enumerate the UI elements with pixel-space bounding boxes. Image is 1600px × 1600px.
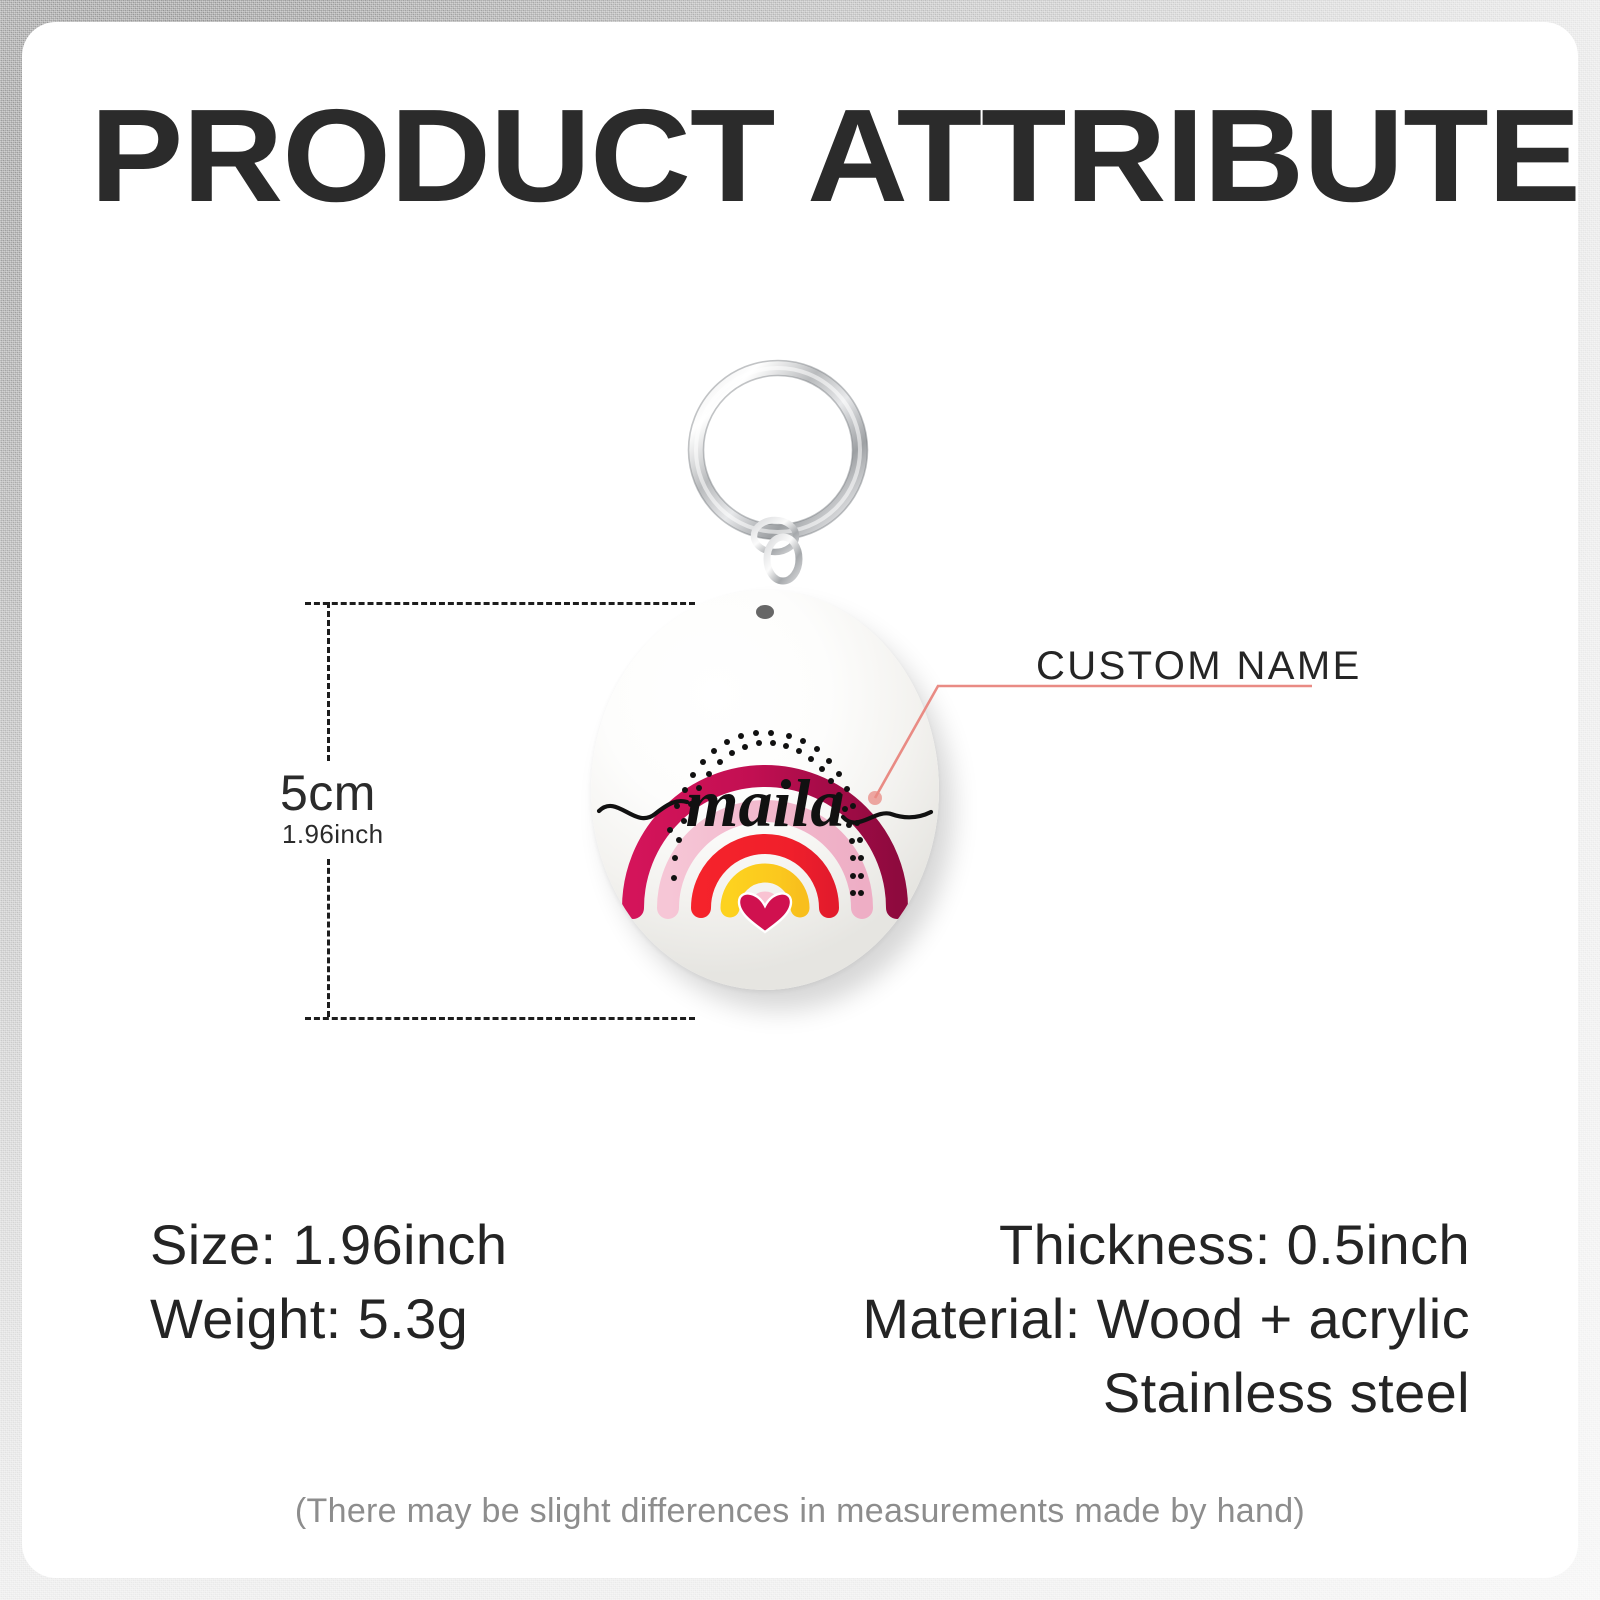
callout-label: CUSTOM NAME <box>1036 644 1362 689</box>
spec-thickness: Thickness: 0.5inch <box>999 1208 1470 1282</box>
split-ring-icon <box>671 354 886 519</box>
spec-column-right: Thickness: 0.5inch Material: Wood + acry… <box>862 1208 1470 1430</box>
spec-column-left: Size: 1.96inch Weight: 5.3g <box>150 1208 507 1430</box>
product-attribute-card: PRODUCT ATTRIBUTE <box>22 22 1578 1578</box>
spec-block: Size: 1.96inch Weight: 5.3g Thickness: 0… <box>150 1208 1470 1430</box>
dimension-inch: 1.96inch <box>280 818 440 852</box>
spec-weight: Weight: 5.3g <box>150 1282 507 1356</box>
dimension-cm: 5cm <box>280 768 440 818</box>
dimension-label: 5cm 1.96inch <box>280 764 440 856</box>
measurement-disclaimer: (There may be slight differences in meas… <box>22 1492 1578 1531</box>
spec-size: Size: 1.96inch <box>150 1208 507 1282</box>
spec-material-2: Stainless steel <box>1103 1356 1470 1430</box>
dimension-bracket: 5cm 1.96inch <box>305 602 695 1020</box>
spec-material: Material: Wood + acrylic <box>862 1282 1470 1356</box>
svg-text:maila: maila <box>686 765 845 841</box>
